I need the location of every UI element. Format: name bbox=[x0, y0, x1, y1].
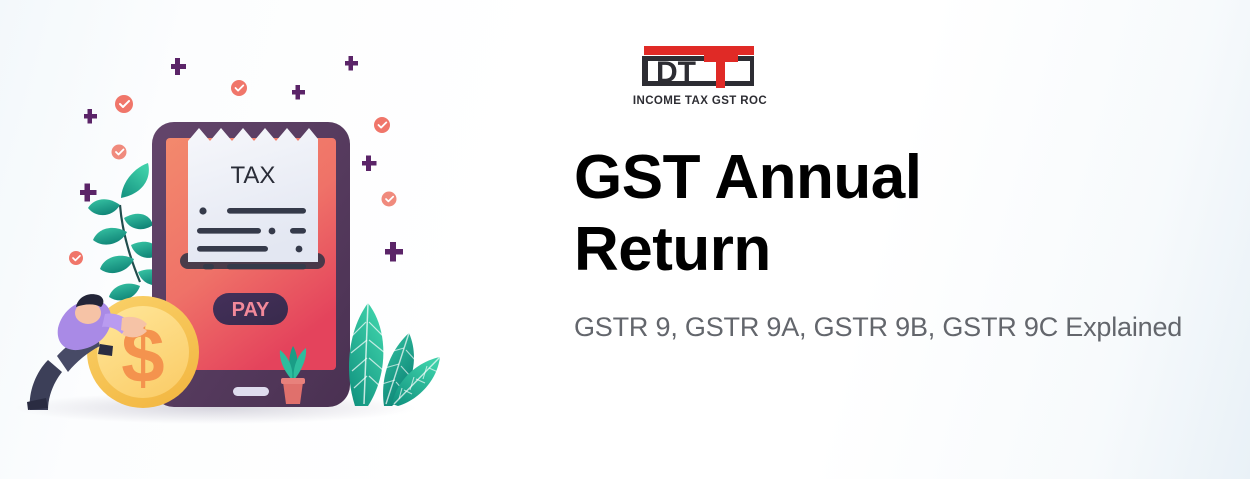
gst-annual-return-banner: TAX PAY bbox=[0, 0, 1250, 479]
check-badge bbox=[231, 80, 247, 96]
check-badge bbox=[374, 117, 390, 133]
plus-icon bbox=[362, 156, 377, 172]
receipt-tax-label: TAX bbox=[231, 162, 276, 189]
logo-red-bar bbox=[644, 46, 754, 55]
home-indicator bbox=[233, 387, 269, 396]
brand-logo: DT INCOME TAX GST ROC bbox=[634, 44, 774, 107]
logo-letters: DT bbox=[656, 56, 696, 89]
page-title: GST Annual Return bbox=[574, 142, 1004, 286]
banner-content: DT INCOME TAX GST ROC GST Annual Return … bbox=[574, 0, 1250, 479]
page-subtitle: GSTR 9, GSTR 9A, GSTR 9B, GSTR 9C Explai… bbox=[574, 310, 1182, 344]
plus-icon bbox=[345, 56, 358, 71]
plus-icon bbox=[385, 242, 403, 262]
receipt-paper bbox=[188, 128, 318, 262]
check-badge bbox=[382, 192, 397, 207]
logo-mark: DT bbox=[634, 44, 766, 94]
logo-tagline: INCOME TAX GST ROC bbox=[630, 95, 770, 107]
check-badge bbox=[115, 95, 133, 113]
leaf-cluster-right bbox=[349, 303, 440, 406]
plus-icon bbox=[80, 184, 97, 202]
plus-icon bbox=[171, 58, 186, 75]
check-badge bbox=[112, 145, 127, 160]
check-badge bbox=[69, 251, 83, 265]
tax-payment-illustration: TAX PAY bbox=[0, 0, 500, 479]
pay-button-label: PAY bbox=[232, 299, 270, 321]
plus-icon bbox=[84, 109, 97, 124]
plus-icon bbox=[292, 85, 305, 100]
